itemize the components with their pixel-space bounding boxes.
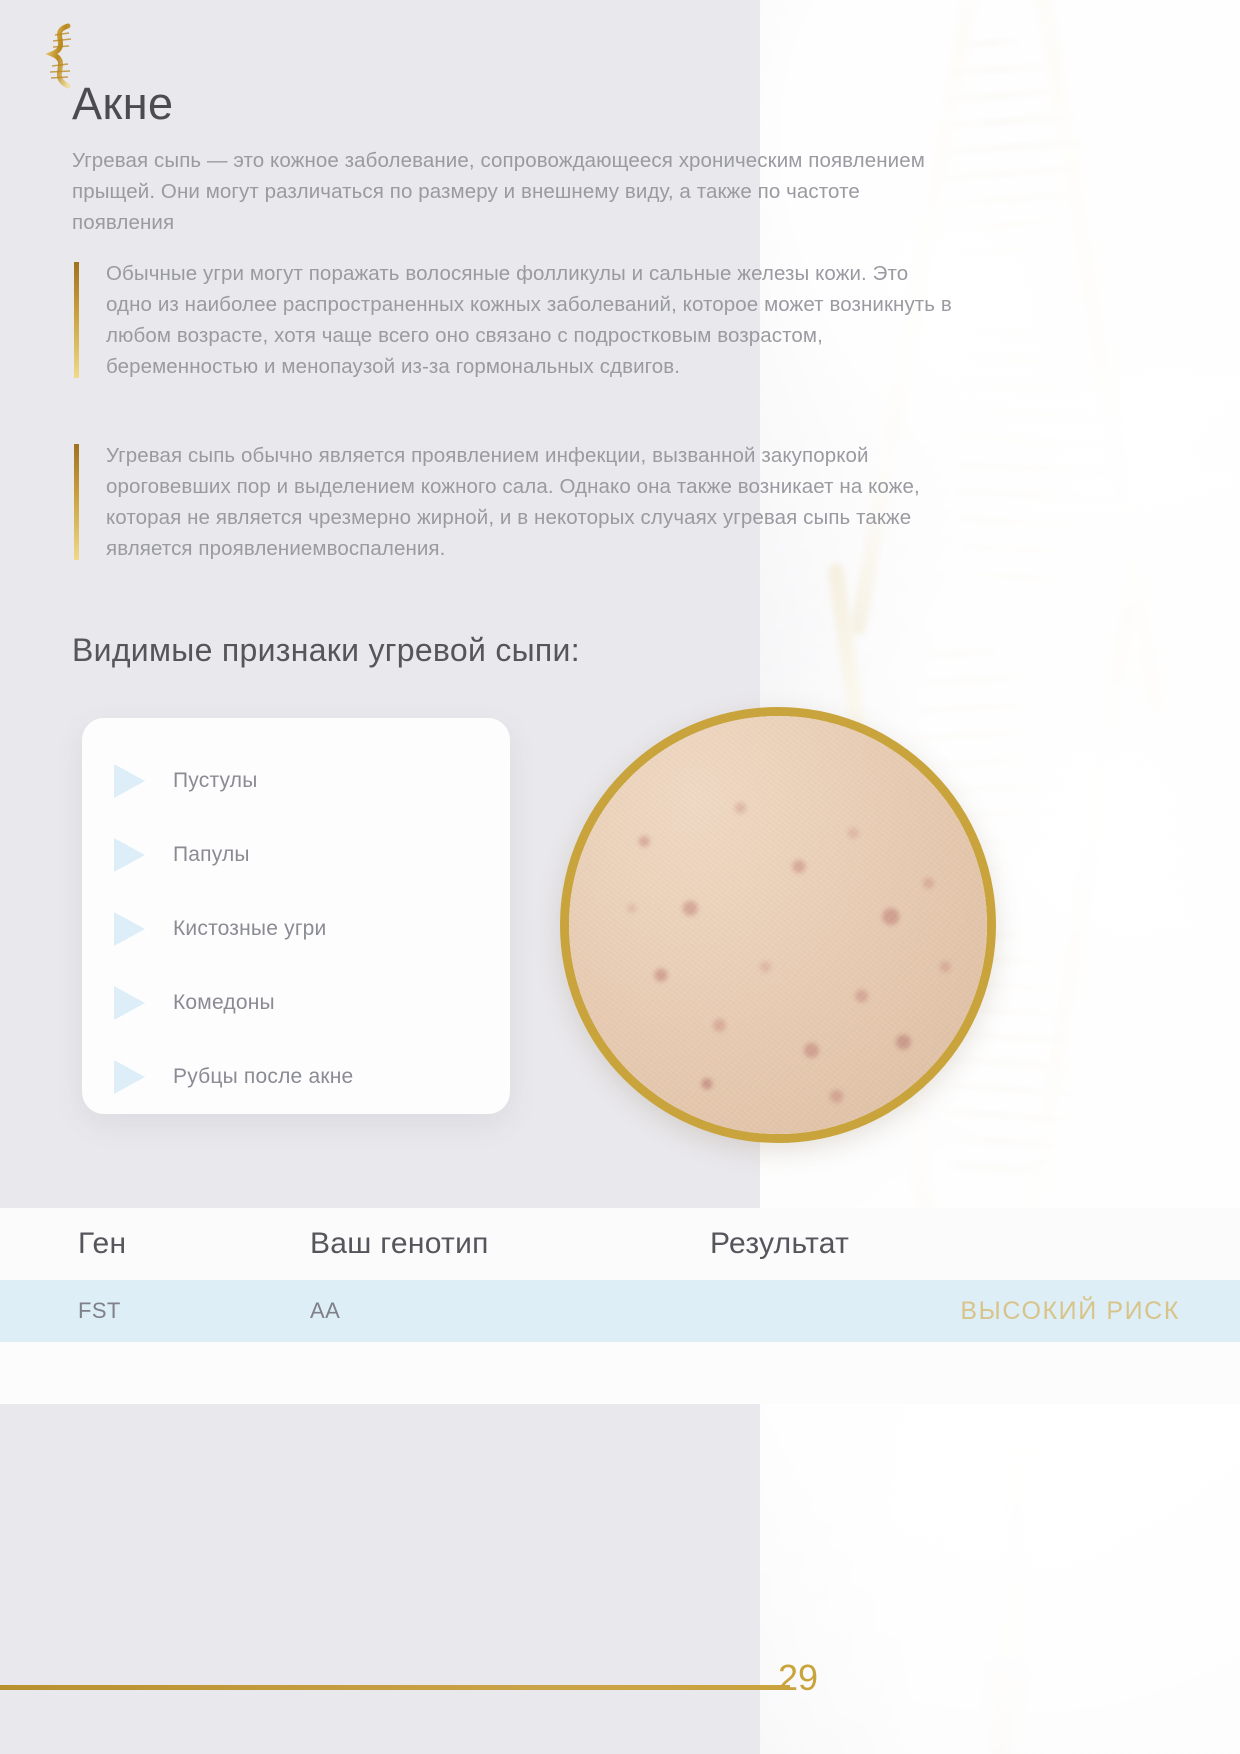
quote-block-2: Угревая сыпь обычно является проявлением… [74,440,954,564]
column-header-result: Результат [710,1227,1240,1261]
list-item: Кистозные угри [82,892,510,966]
symptom-label: Рубцы после акне [173,1065,353,1089]
dna-rung [937,113,1076,130]
dna-rung [916,701,1045,715]
dna-rung [928,648,1000,659]
dna-rung [956,488,1117,503]
dna-rung [947,63,1043,77]
dna-rung [955,461,1120,477]
cell-gene: FST [0,1298,310,1324]
triangle-bullet-icon [114,1060,145,1094]
dna-rung [941,88,1062,103]
triangle-bullet-icon [114,764,145,798]
column-header-gene: Ген [0,1227,310,1261]
symptoms-heading: Видимые признаки угревой сыпи: [72,632,580,669]
dna-rung [947,1161,1040,1174]
table-header-row: Ген Ваш генотип Результат [0,1208,1240,1280]
quote-block-1: Обычные угри могут поражать волосяные фо… [74,258,954,382]
dna-rung [962,381,1090,395]
results-table: Ген Ваш генотип Результат FST AA ВЫСОКИЙ… [0,1208,1240,1404]
triangle-bullet-icon [114,838,145,872]
table-footer-spacer [0,1342,1240,1404]
triangle-bullet-icon [114,912,145,946]
dna-rung [967,570,1070,582]
list-item: Рубцы после акне [82,1040,510,1114]
symptoms-card: Пустулы Папулы Кистозные угри Комедоны Р… [82,718,510,1114]
dna-rung [958,407,1106,422]
skin-photo-circle [560,707,996,1143]
cell-genotype: AA [310,1298,710,1324]
dna-rung [973,328,1048,339]
intro-paragraph: Угревая сыпь — это кожное заболевание, с… [72,145,962,238]
dna-rung [947,245,1043,259]
dna-rung [975,1416,1093,1427]
symptom-label: Пустулы [173,769,258,793]
status-badge: ВЫСОКИЙ РИСК [710,1297,1240,1326]
skin-image [569,716,987,1134]
dna-rung [981,1444,1074,1454]
skin-grain-texture [569,716,987,1134]
dna-rung [962,543,1090,557]
symptom-label: Комедоны [173,991,275,1015]
list-item: Комедоны [82,966,510,1040]
symptom-label: Кистозные угри [173,917,327,941]
page-number: 29 [738,1657,858,1699]
dna-rung [967,354,1070,366]
dna-rung [953,38,1021,50]
dna-rung [922,674,1024,686]
dna-rung [942,1134,1058,1149]
triangle-bullet-icon [114,986,145,1020]
dna-rung [956,434,1117,449]
dna-rung [958,515,1106,530]
table-row: FST AA ВЫСОКИЙ РИСК [0,1280,1240,1342]
column-header-genotype: Ваш генотип [310,1227,710,1261]
dna-strand [1031,0,1166,717]
page-title: Акне [72,78,174,130]
footer-divider [0,1685,790,1690]
symptom-label: Папулы [173,843,250,867]
list-item: Пустулы [82,744,510,818]
list-item: Папулы [82,818,510,892]
